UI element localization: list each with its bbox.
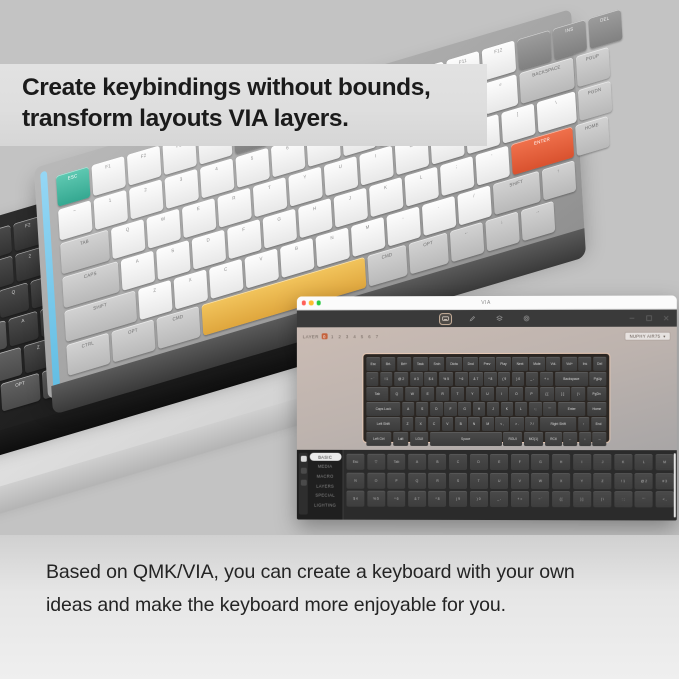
via-body: LAYER 01234567 NUPHY AIR75 ▾ EscBrt-Brt+… <box>297 327 677 521</box>
layer-selector[interactable]: LAYER 01234567 <box>303 333 380 339</box>
keycode-key[interactable]: % 5 <box>367 491 385 507</box>
keycode-key[interactable]: N <box>346 472 364 488</box>
virtual-key[interactable]: ( 9 <box>498 372 510 386</box>
virtual-keyboard-row: TabQWERTYUIOP{ [} ]| \PgDn <box>366 387 606 401</box>
keycode-key[interactable]: { [ <box>552 491 570 507</box>
virtual-key[interactable]: Enter <box>558 402 586 416</box>
keycode-key[interactable]: V <box>511 473 529 489</box>
keyboard-select-value: NUPHY AIR75 <box>630 334 661 339</box>
virtual-key[interactable]: Del <box>593 357 606 371</box>
product-marketing-image: CAPSASDFGHJKL SHIFTZXCVBNM,. CTRLOPTCMD … <box>0 0 679 679</box>
keycode-key[interactable]: A <box>408 454 426 470</box>
virtual-key[interactable]: T <box>451 387 464 400</box>
layers-icon[interactable] <box>494 313 505 323</box>
keycode-key[interactable]: ! 1 <box>614 473 632 489</box>
virtual-key[interactable]: PgUp <box>590 372 607 386</box>
keycode-key[interactable]: W <box>531 473 549 489</box>
keycode-grid[interactable]: Esc▽TabABCDEFGHIJKLMNOPQRSTUVWXYZ! 1@ 2#… <box>343 450 677 521</box>
keycode-key[interactable]: G <box>531 454 549 470</box>
keycode-key[interactable]: Esc <box>346 454 364 470</box>
layer-button-6[interactable]: 6 <box>367 334 372 339</box>
page-caption: Based on QMK/VIA, you can create a keybo… <box>46 556 646 622</box>
virtual-key[interactable]: $ 4 <box>425 372 438 385</box>
keycode-key[interactable]: J <box>593 454 611 470</box>
virtual-key[interactable]: F <box>444 402 456 415</box>
keycode-grid-row: Esc▽TabABCDEFGHIJKLM <box>346 454 673 470</box>
keycode-category-media[interactable]: MEDIA <box>309 462 341 470</box>
virtual-key[interactable]: { [ <box>540 387 554 401</box>
virtual-key[interactable]: Task <box>413 357 428 370</box>
virtual-key[interactable]: ↓ <box>579 433 591 447</box>
virtual-keyboard[interactable]: EscBrt-Brt+TaskSrchDictaDndPrevPlayNextM… <box>362 353 610 443</box>
virtual-key[interactable]: + = <box>540 372 553 386</box>
keycode-key[interactable]: U <box>490 473 508 489</box>
layer-button-4[interactable]: 4 <box>352 334 357 339</box>
virtual-key[interactable]: Tab <box>366 387 388 400</box>
via-app-window[interactable]: VIA <box>297 296 677 521</box>
keycode-key[interactable]: M <box>656 454 674 470</box>
virtual-key[interactable]: Space <box>430 432 502 446</box>
keycode-key[interactable]: | \ <box>593 491 611 507</box>
rail-settings-icon[interactable] <box>300 480 306 486</box>
virtual-key[interactable]: C <box>428 417 440 430</box>
virtual-key[interactable]: W <box>405 387 419 400</box>
window-title: VIA <box>297 299 677 306</box>
virtual-key[interactable]: Z <box>402 417 413 430</box>
gear-icon[interactable] <box>521 313 532 323</box>
virtual-key[interactable]: & 7 <box>469 372 482 386</box>
virtual-key[interactable]: ^ 6 <box>455 372 468 386</box>
virtual-key[interactable]: Vol+ <box>562 357 577 371</box>
virtual-key[interactable]: N <box>468 417 480 431</box>
virtual-key[interactable]: Ins <box>579 357 592 371</box>
keycode-key[interactable]: ~ ` <box>531 491 549 507</box>
layer-button-1[interactable]: 1 <box>330 334 335 339</box>
virtual-key[interactable]: | \ <box>571 387 585 401</box>
keycode-key[interactable]: F <box>511 454 529 470</box>
keycode-key[interactable]: < , <box>656 491 674 507</box>
virtual-key[interactable]: E <box>421 387 434 400</box>
keycode-key[interactable]: " ' <box>635 491 653 507</box>
keycode-key[interactable]: $ 4 <box>346 491 364 507</box>
virtual-key[interactable]: V <box>442 417 454 430</box>
layer-label: LAYER <box>303 334 319 339</box>
layer-button-5[interactable]: 5 <box>359 334 364 339</box>
virtual-key[interactable]: LGUI <box>410 432 428 445</box>
keycode-key[interactable]: ) 0 <box>470 491 488 507</box>
virtual-key[interactable]: End <box>591 417 606 431</box>
rail-macro-icon[interactable] <box>300 468 306 474</box>
keycode-key[interactable]: Tab <box>387 454 405 470</box>
keycode-category-lighting[interactable]: LIGHTING <box>309 501 341 509</box>
window-minimize-icon[interactable] <box>627 314 636 322</box>
virtual-key[interactable]: Q <box>390 387 404 400</box>
caption-line-2: ideas and make the keyboard more enjoyab… <box>46 594 506 616</box>
virtual-key[interactable]: Right Shift <box>540 417 576 431</box>
virtual-key[interactable]: Dicta <box>446 357 462 371</box>
picker-scrollbar[interactable] <box>673 453 676 517</box>
virtual-key[interactable]: @ 2 <box>394 372 408 385</box>
keycode-key[interactable]: K <box>614 454 632 470</box>
keycode-key[interactable]: # 3 <box>656 473 674 489</box>
headline-line-2: transform layouts VIA layers. <box>22 103 492 134</box>
keycode-key[interactable]: Z <box>593 473 611 489</box>
window-maximize-icon[interactable] <box>645 314 654 322</box>
virtual-key[interactable]: Y <box>466 387 479 401</box>
keycode-key[interactable]: B <box>428 454 446 470</box>
keycode-picker-sidebar[interactable]: BASICMEDIAMACROLAYERSSPECIALLIGHTING <box>297 450 343 520</box>
layer-button-3[interactable]: 3 <box>345 334 350 339</box>
keycode-key[interactable]: X <box>552 473 570 489</box>
keycode-category-layers[interactable]: LAYERS <box>309 482 341 490</box>
page-headline: Create keybindings without bounds, trans… <box>22 72 492 134</box>
keycode-key[interactable]: Q <box>408 472 426 488</box>
virtual-key[interactable]: → <box>593 433 607 447</box>
keycode-category-special[interactable]: SPECIAL <box>309 491 341 499</box>
virtual-key[interactable]: Vol- <box>546 357 560 371</box>
keycode-key[interactable]: : ; <box>614 491 632 507</box>
keycode-key[interactable]: H <box>552 454 570 470</box>
virtual-key[interactable]: U <box>481 387 495 401</box>
keycode-key[interactable]: * 8 <box>428 491 446 507</box>
virtual-key[interactable]: S <box>416 402 428 415</box>
virtual-key[interactable]: R <box>436 387 450 400</box>
virtual-key[interactable]: PgDn <box>587 387 607 401</box>
keycap: DEL <box>588 9 622 49</box>
virtual-key[interactable]: # 3 <box>410 372 423 385</box>
caption-line-1: Based on QMK/VIA, you can create a keybo… <box>46 561 575 583</box>
virtual-key[interactable]: Brt+ <box>397 357 411 370</box>
virtual-key[interactable]: L <box>515 402 527 416</box>
pencil-icon[interactable] <box>467 314 478 324</box>
virtual-keyboard-row: Caps LockASDFGHJKL: ;" 'EnterHome <box>366 402 606 416</box>
virtual-key[interactable]: } ] <box>556 387 570 401</box>
keycode-key[interactable]: } ] <box>573 491 591 507</box>
virtual-keyboard-row: EscBrt-Brt+TaskSrchDictaDndPrevPlayNextM… <box>366 357 606 371</box>
virtual-key[interactable]: Left Ctrl <box>366 432 391 445</box>
keycap: HOME <box>575 116 609 156</box>
virtual-key[interactable]: Lalt <box>393 432 409 445</box>
keycode-key[interactable]: R <box>428 472 446 488</box>
keycode-key[interactable]: I <box>573 454 591 470</box>
via-title-bar: VIA <box>297 296 677 311</box>
layer-button-0[interactable]: 0 <box>321 333 327 339</box>
keycode-key[interactable]: ^ 6 <box>387 491 405 507</box>
picker-rail[interactable] <box>299 453 308 515</box>
virtual-key[interactable]: M <box>482 417 494 431</box>
virtual-keyboard-row: Left CtrlLaltLGUISpaceRGUIMO(1)RCtl←↓→ <box>366 432 606 446</box>
keycode-picker[interactable]: BASICMEDIAMACROLAYERSSPECIALLIGHTING Esc… <box>297 450 677 521</box>
keycode-key[interactable]: _ - <box>490 491 508 507</box>
keycode-key[interactable]: P <box>387 472 405 488</box>
headline-line-1: Create keybindings without bounds, <box>22 74 430 101</box>
virtual-key[interactable]: ) 0 <box>512 372 524 386</box>
virtual-key[interactable]: Brt- <box>382 357 396 370</box>
keycode-key[interactable]: @ 2 <box>635 473 653 489</box>
virtual-key[interactable]: ← <box>563 433 577 447</box>
virtual-key[interactable]: Prev <box>479 357 494 371</box>
virtual-key[interactable]: K <box>501 402 514 416</box>
virtual-key[interactable]: Backspace <box>555 372 588 386</box>
virtual-key[interactable]: ! 1 <box>380 372 392 385</box>
virtual-key[interactable]: H <box>473 402 486 415</box>
virtual-key[interactable]: _ - <box>526 372 538 386</box>
virtual-key[interactable]: ↑ <box>578 417 589 431</box>
keycode-key[interactable]: & 7 <box>408 491 426 507</box>
keycode-key[interactable]: E <box>490 454 508 470</box>
rail-keyboard-icon[interactable] <box>300 456 306 462</box>
virtual-key[interactable]: MO(1) <box>524 432 544 446</box>
virtual-key[interactable]: RGUI <box>503 432 522 446</box>
virtual-keyboard-row: Left ShiftZXCVBNM< ,> .? /Right Shift↑En… <box>366 417 606 431</box>
virtual-key[interactable]: Play <box>496 357 511 371</box>
virtual-key[interactable]: % 5 <box>439 372 453 385</box>
keyboard-icon[interactable] <box>440 314 451 324</box>
layer-button-7[interactable]: 7 <box>374 334 379 339</box>
keycode-key[interactable]: S <box>449 472 467 488</box>
virtual-key[interactable]: J <box>487 402 499 416</box>
virtual-key[interactable]: G <box>458 402 471 415</box>
virtual-keyboard-row: ~ `! 1@ 2# 3$ 4% 5^ 6& 7* 8( 9) 0_ -+ =B… <box>366 372 606 386</box>
virtual-key[interactable]: O <box>509 387 523 401</box>
virtual-key[interactable]: RCtl <box>545 433 562 447</box>
virtual-key[interactable]: Dnd <box>463 357 477 371</box>
keycode-key[interactable]: T <box>470 472 488 488</box>
virtual-key[interactable]: Caps Lock <box>366 402 400 415</box>
keycode-key[interactable]: C <box>449 454 467 470</box>
keycode-category-macro[interactable]: MACRO <box>309 472 341 480</box>
keycode-key[interactable]: L <box>635 454 653 470</box>
virtual-key[interactable]: D <box>430 402 443 415</box>
keycode-category-basic[interactable]: BASIC <box>309 453 341 461</box>
virtual-key[interactable]: : ; <box>529 402 542 416</box>
keyboard-select-dropdown[interactable]: NUPHY AIR75 ▾ <box>625 332 671 341</box>
keycode-key[interactable]: Y <box>573 473 591 489</box>
keycode-key[interactable]: ( 9 <box>449 491 467 507</box>
virtual-key[interactable]: Home <box>587 402 606 416</box>
virtual-key[interactable]: < , <box>495 417 508 431</box>
keycode-category-menu[interactable]: BASICMEDIAMACROLAYERSSPECIALLIGHTING <box>309 453 341 509</box>
virtual-key[interactable]: " ' <box>543 402 556 416</box>
keycode-key[interactable]: O <box>367 472 385 488</box>
virtual-key[interactable]: > . <box>510 417 523 431</box>
virtual-key[interactable]: Srch <box>429 357 444 371</box>
chevron-down-icon: ▾ <box>663 334 665 339</box>
keycode-key[interactable]: ▽ <box>367 454 385 470</box>
keycode-grid-row: $ 4% 5^ 6& 7* 8( 9) 0_ -+ =~ `{ [} ]| \:… <box>346 491 673 508</box>
virtual-key[interactable]: * 8 <box>484 372 496 386</box>
via-toolbar[interactable] <box>297 310 677 328</box>
window-close-icon[interactable] <box>662 314 671 322</box>
keycode-key[interactable]: + = <box>511 491 529 507</box>
keycode-grid-row: NOPQRSTUVWXYZ! 1@ 2# 3 <box>346 472 673 489</box>
virtual-key[interactable]: Left Shift <box>366 417 400 430</box>
keycode-key[interactable]: D <box>470 454 488 470</box>
virtual-key[interactable]: P <box>525 387 538 401</box>
virtual-key[interactable]: ~ ` <box>366 372 378 385</box>
virtual-key[interactable]: I <box>496 387 508 401</box>
virtual-key[interactable]: A <box>402 402 414 415</box>
virtual-key[interactable]: X <box>415 417 427 430</box>
virtual-key[interactable]: Next <box>512 357 527 371</box>
virtual-key[interactable]: Mute <box>529 357 545 371</box>
virtual-key[interactable]: Esc <box>366 357 380 370</box>
virtual-key[interactable]: ? / <box>525 417 538 431</box>
virtual-key[interactable]: B <box>455 417 467 430</box>
layer-button-2[interactable]: 2 <box>337 334 342 339</box>
